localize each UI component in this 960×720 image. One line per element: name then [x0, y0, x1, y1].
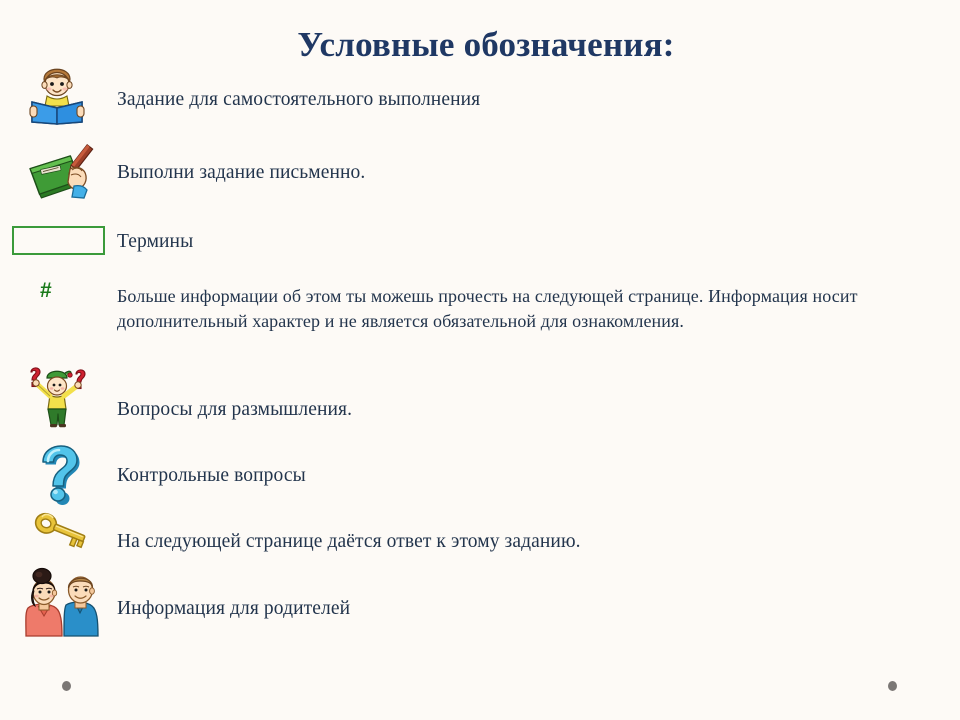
- legend-label-answer-next-page: На следующей странице даётся ответ к это…: [117, 530, 757, 553]
- legend-label-control-questions: Контрольные вопросы: [117, 464, 637, 487]
- legend-label-thinking-questions: Вопросы для размышления.: [117, 398, 637, 421]
- legend-label-parents-info: Информация для родителей: [117, 597, 637, 620]
- legend-label-independent-task: Задание для самостоятельного выполнения: [117, 88, 737, 111]
- jester-with-question-marks-icon: [25, 362, 91, 428]
- bottom-right-dot: [888, 681, 897, 691]
- hash-icon: #: [40, 280, 52, 301]
- green-rectangle-box-icon: [12, 226, 105, 255]
- hand-writing-notebook-icon: [22, 145, 102, 200]
- parents-couple-icon: [20, 568, 102, 638]
- legend-label-extra-info: Больше информации об этом ты можешь проч…: [117, 284, 895, 334]
- blue-question-mark-icon: [30, 443, 86, 505]
- bottom-left-dot: [62, 681, 71, 691]
- legend-label-terms: Термины: [117, 230, 437, 253]
- golden-key-icon: [28, 514, 94, 560]
- slide-canvas: Условные обозначения:: [0, 0, 960, 720]
- page-title: Условные обозначения:: [0, 26, 960, 65]
- boy-reading-book-icon: [22, 58, 92, 126]
- legend-label-write-task: Выполни задание письменно.: [117, 161, 637, 184]
